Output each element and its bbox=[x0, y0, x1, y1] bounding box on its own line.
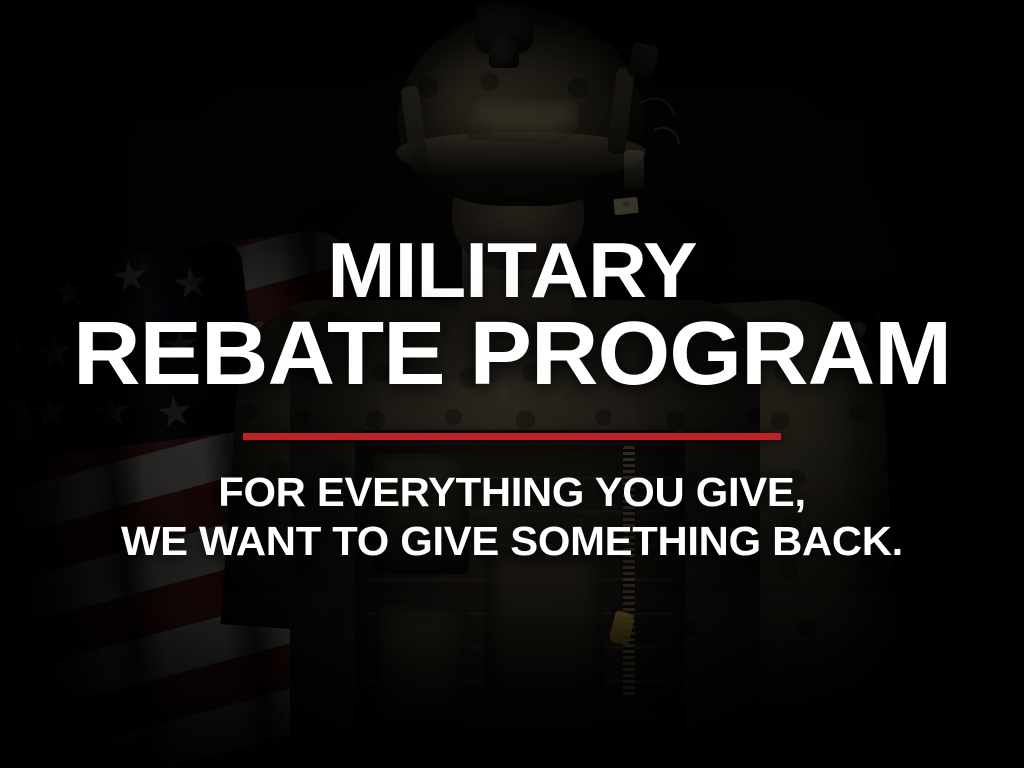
text-overlay: MILITARY REBATE PROGRAM FOR EVERYTHING Y… bbox=[0, 0, 1024, 768]
military-rebate-poster: IR MILITARY REBATE PROGRAM FOR EVERYTHIN… bbox=[0, 0, 1024, 768]
headline-line-1: MILITARY bbox=[0, 235, 1024, 307]
subtitle-line-2: WE WANT TO GIVE SOMETHING BACK. bbox=[0, 517, 1024, 565]
subtitle: FOR EVERYTHING YOU GIVE, WE WANT TO GIVE… bbox=[0, 468, 1024, 565]
red-divider-rule bbox=[243, 433, 781, 440]
page-title: MILITARY REBATE PROGRAM bbox=[0, 21, 1024, 396]
headline-line-2: REBATE PROGRAM bbox=[0, 313, 1024, 396]
subtitle-line-1: FOR EVERYTHING YOU GIVE, bbox=[0, 468, 1024, 516]
